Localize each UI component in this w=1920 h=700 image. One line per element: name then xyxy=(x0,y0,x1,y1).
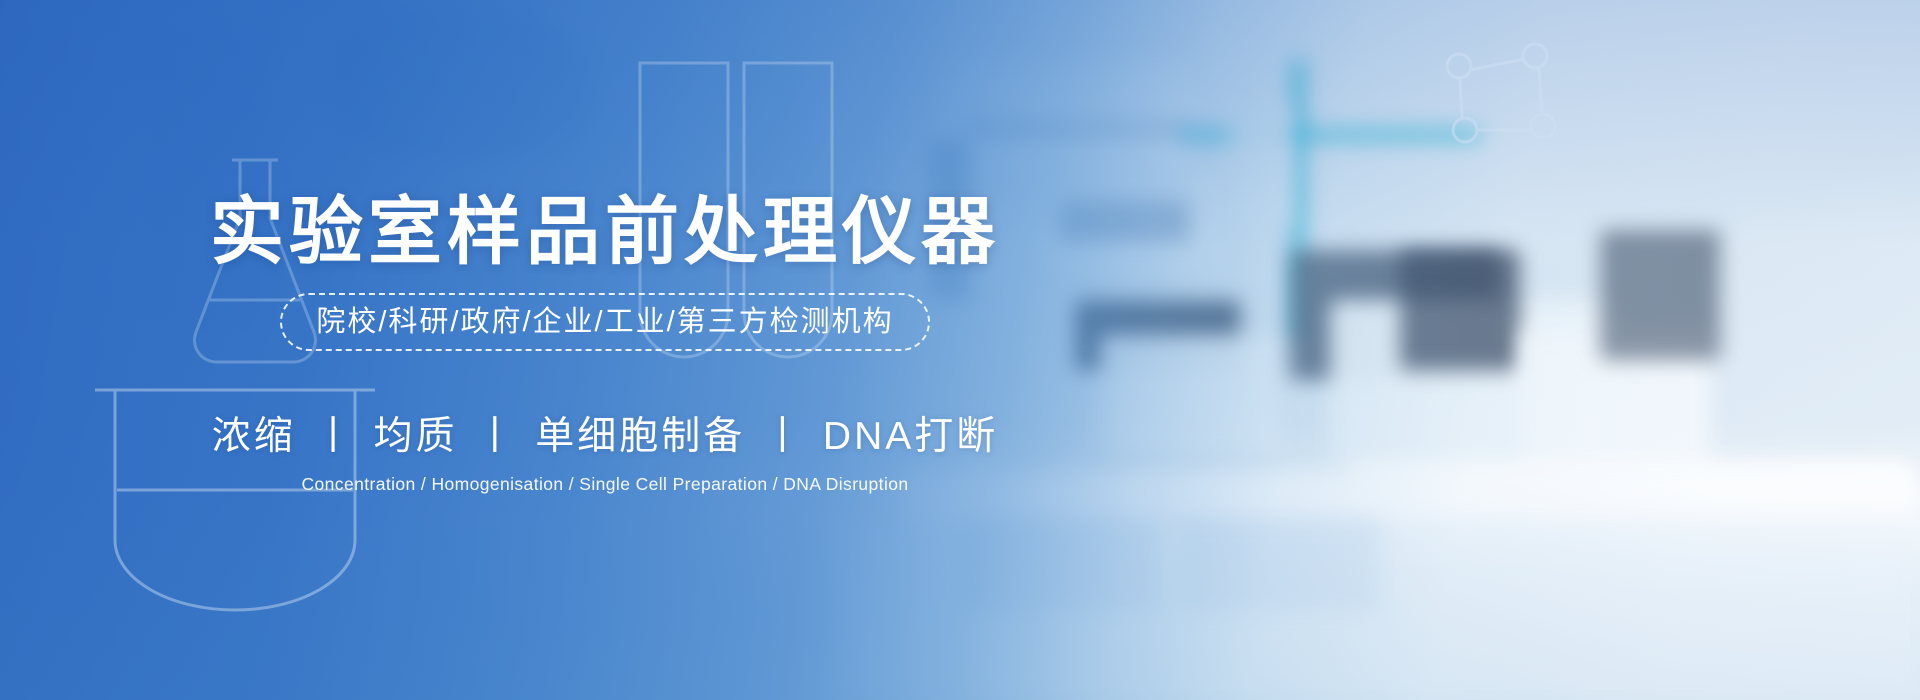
hero-content: 实验室样品前处理仪器 院校/科研/政府/企业/工业/第三方检测机构 浓缩 丨 均… xyxy=(0,0,1210,700)
feature-separator: 丨 xyxy=(759,415,809,458)
audience-badge: 院校/科研/政府/企业/工业/第三方检测机构 xyxy=(280,293,929,351)
feature-homogenisation-cn: 均质 xyxy=(373,415,457,458)
feature-separator: 丨 xyxy=(471,415,521,458)
molecule-outline-icon xyxy=(1435,40,1565,150)
feature-dna-disruption-cn: DNA打断 xyxy=(823,415,998,458)
feature-list-en: Concentration / Homogenisation / Single … xyxy=(302,474,909,495)
feature-single-cell-cn: 单细胞制备 xyxy=(535,415,745,458)
feature-concentration-cn: 浓缩 xyxy=(212,415,296,458)
feature-list-cn: 浓缩 丨 均质 丨 单细胞制备 丨 DNA打断 xyxy=(212,405,999,461)
page-title: 实验室样品前处理仪器 xyxy=(210,193,1000,271)
feature-separator: 丨 xyxy=(310,415,360,458)
hero-banner: 实验室样品前处理仪器 院校/科研/政府/企业/工业/第三方检测机构 浓缩 丨 均… xyxy=(0,0,1920,700)
